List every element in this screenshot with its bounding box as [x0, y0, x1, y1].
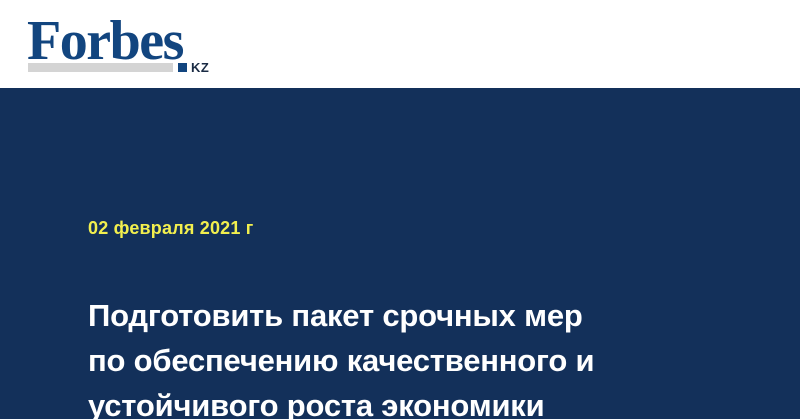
headline-line: по обеспечению качественного и [88, 338, 728, 383]
logo-country-code: KZ [191, 61, 209, 74]
article-date: 02 февраля 2021 г [88, 217, 254, 239]
article-headline: Подготовить пакет срочных мер по обеспеч… [88, 293, 728, 419]
site-header: Forbes KZ [0, 0, 800, 88]
forbes-kz-logo[interactable]: Forbes KZ [27, 13, 227, 75]
logo-rule-divider [28, 63, 173, 72]
hero-banner: 02 февраля 2021 г Подготовить пакет сроч… [0, 88, 800, 419]
logo-wordmark: Forbes [27, 13, 183, 69]
article-hero-page: Forbes KZ 02 февраля 2021 г Подготовить … [0, 0, 800, 419]
headline-line: устойчивого роста экономики [88, 383, 728, 419]
logo-square-icon [178, 63, 187, 72]
headline-line: Подготовить пакет срочных мер [88, 293, 728, 338]
